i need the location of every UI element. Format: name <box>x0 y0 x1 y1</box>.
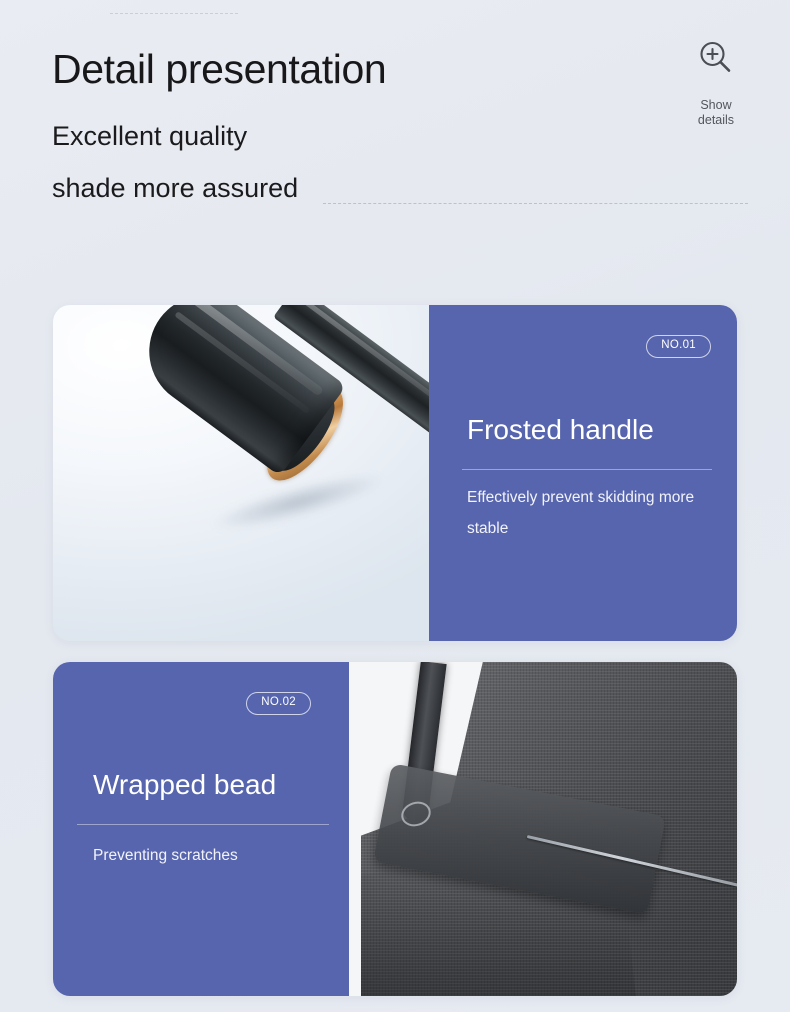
feature-photo-frosted-handle <box>53 305 429 641</box>
subtitle-line-2: shade more assured <box>52 170 298 206</box>
card-title-wrapped-bead: Wrapped bead <box>93 768 276 802</box>
show-details-control[interactable]: Show details <box>680 38 752 128</box>
feature-photo-wrapped-bead <box>349 662 737 996</box>
magnifier-plus-icon[interactable] <box>696 38 736 78</box>
card-badge-no-01: NO.01 <box>646 335 711 358</box>
show-details-label: Show details <box>698 98 734 128</box>
product-detail-page: Detail presentation Excellent quality sh… <box>0 0 790 1012</box>
card-description-wrapped-bead: Preventing scratches <box>93 840 333 871</box>
handle-photo-backdrop <box>53 305 429 641</box>
header-section: Detail presentation Excellent quality sh… <box>0 0 790 230</box>
feature-card-wrapped-bead[interactable]: NO.02 Wrapped bead Preventing scratches <box>53 662 737 996</box>
page-title: Detail presentation <box>52 43 386 95</box>
subtitle-line-1: Excellent quality <box>52 118 247 154</box>
card-description-frosted-handle: Effectively prevent skidding more stable <box>467 482 717 544</box>
card-badge-no-02: NO.02 <box>246 692 311 715</box>
card-divider-1 <box>462 469 712 470</box>
card-title-frosted-handle: Frosted handle <box>467 413 654 447</box>
feature-text-panel-1: NO.01 Frosted handle Effectively prevent… <box>429 305 737 641</box>
card-divider-2 <box>77 824 329 825</box>
feature-card-frosted-handle[interactable]: NO.01 Frosted handle Effectively prevent… <box>53 305 737 641</box>
feature-text-panel-2: NO.02 Wrapped bead Preventing scratches <box>53 662 349 996</box>
fabric-photo-backdrop <box>349 662 737 996</box>
